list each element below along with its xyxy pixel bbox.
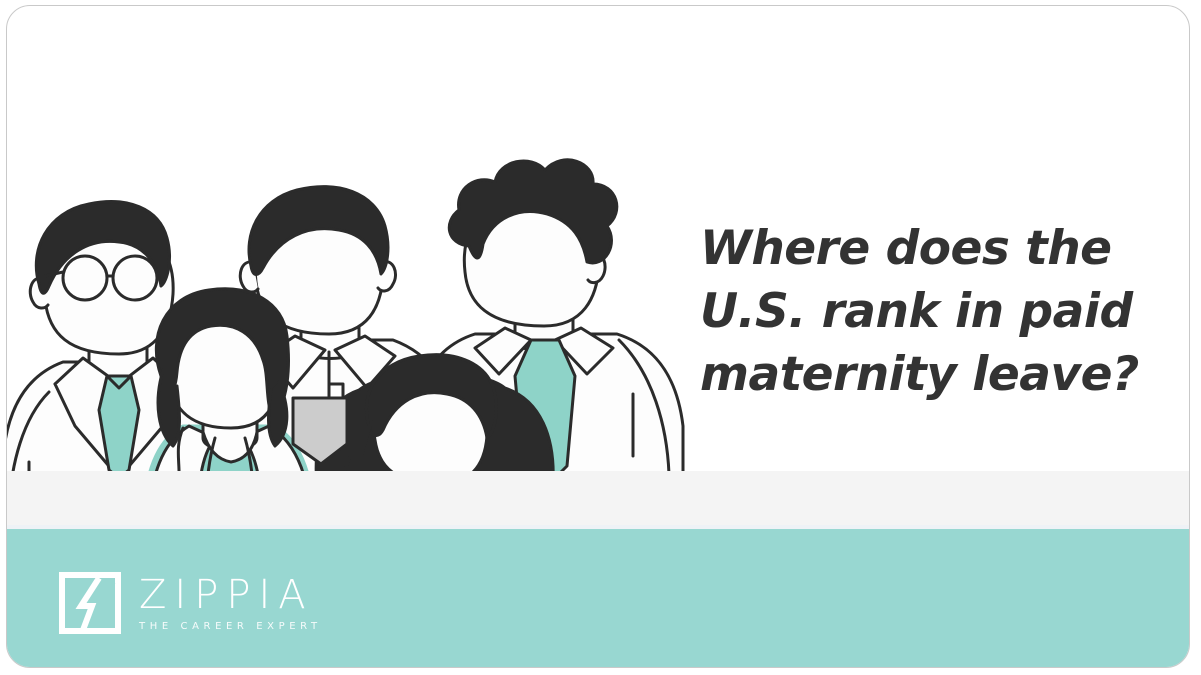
content-card: Where does the U.S. rank in paid materni… xyxy=(6,5,1190,668)
headline-line-1: Where does the xyxy=(700,218,1170,281)
zippia-z-mark-icon xyxy=(59,572,121,634)
screenshot-root: Where does the U.S. rank in paid materni… xyxy=(0,0,1201,675)
zippia-logo[interactable]: ZIPPIA THE CAREER EXPERT xyxy=(59,572,322,634)
logo-tagline: THE CAREER EXPERT xyxy=(139,622,322,632)
illustration-svg xyxy=(7,126,707,529)
people-illustration xyxy=(7,126,707,529)
logo-wordmark: ZIPPIA xyxy=(139,575,322,615)
page-title: Where does the U.S. rank in paid materni… xyxy=(700,218,1170,407)
gray-band xyxy=(7,471,1189,529)
headline-line-2: U.S. rank in paid xyxy=(700,281,1170,344)
headline-line-3: maternity leave? xyxy=(700,344,1170,407)
logo-text-block: ZIPPIA THE CAREER EXPERT xyxy=(139,575,322,632)
